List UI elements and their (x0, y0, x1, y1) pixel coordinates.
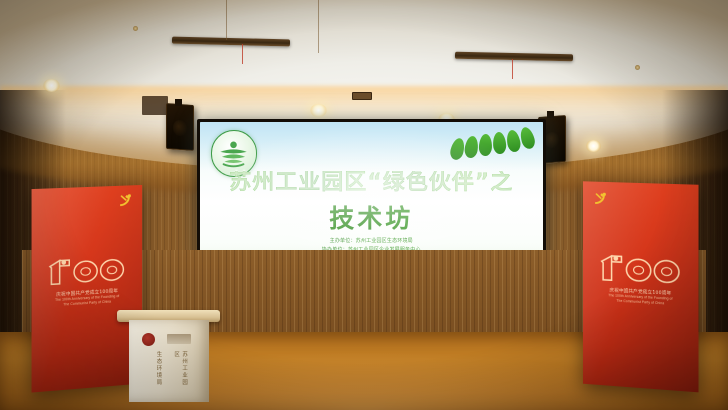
sprinkler-head (133, 26, 138, 31)
organizer-value: 苏州工业园区生态环境局 (356, 238, 413, 244)
speaker-mount-right (547, 111, 554, 118)
podium-text-right: 苏州工业园区 (172, 351, 188, 389)
hammer-and-sickle-icon (594, 192, 609, 207)
speaker-cone (545, 132, 560, 149)
ceiling-cable (242, 44, 243, 64)
banner-right: 庆祝中国共产党成立100周年 The 100th Anniversary of … (583, 181, 699, 392)
centenary-emblem-right: 庆祝中国共产党成立100周年 The 100th Anniversary of … (598, 251, 684, 307)
podium-text-left: 生态环境局 (154, 351, 162, 389)
emblem-100-glyph (598, 251, 684, 288)
title-line-1: 苏州工业园区“绿色伙伴”之 (200, 171, 543, 195)
side-door (142, 96, 168, 114)
ceiling-cable (512, 59, 513, 79)
podium-vertical-text: 生态环境局 苏州工业园区 (150, 351, 193, 389)
wall-speaker-left (166, 103, 194, 151)
centenary-emblem-left: 庆祝中国共产党成立100周年 The 100th Anniversary of … (46, 253, 128, 308)
leaf-decoration (433, 127, 536, 153)
downlight (310, 104, 327, 117)
speaker-mount-left (175, 99, 182, 106)
downlight (43, 79, 60, 92)
presentation-title: 苏州工业园区“绿色伙伴”之 技术坊 (200, 171, 543, 235)
podium-body: 生态环境局 苏州工业园区 (129, 320, 209, 402)
podium: 生态环境局 苏州工业园区 (125, 310, 212, 402)
emblem-100-glyph (46, 253, 128, 289)
ceiling-wire (226, 0, 227, 40)
podium-emblem (142, 333, 156, 347)
ceiling-wire (318, 0, 319, 53)
title-line-2: 技术坊 (200, 199, 543, 235)
sprinkler-head (635, 65, 640, 70)
hammer-and-sickle-icon (117, 193, 132, 208)
conference-hall-photo: 苏州工业园区“绿色伙伴”之 技术坊 主办单位：苏州工业园区生态环境局 协办单位：… (0, 0, 728, 410)
podium-secondary-logo (167, 334, 191, 345)
downlight (586, 140, 601, 152)
eco-logo-glyph (217, 137, 250, 170)
ceiling-vent (352, 92, 372, 100)
organizer-label: 主办单位： (330, 238, 356, 244)
speaker-cone (173, 119, 188, 136)
organizer-row: 主办单位：苏州工业园区生态环境局 (200, 237, 543, 246)
